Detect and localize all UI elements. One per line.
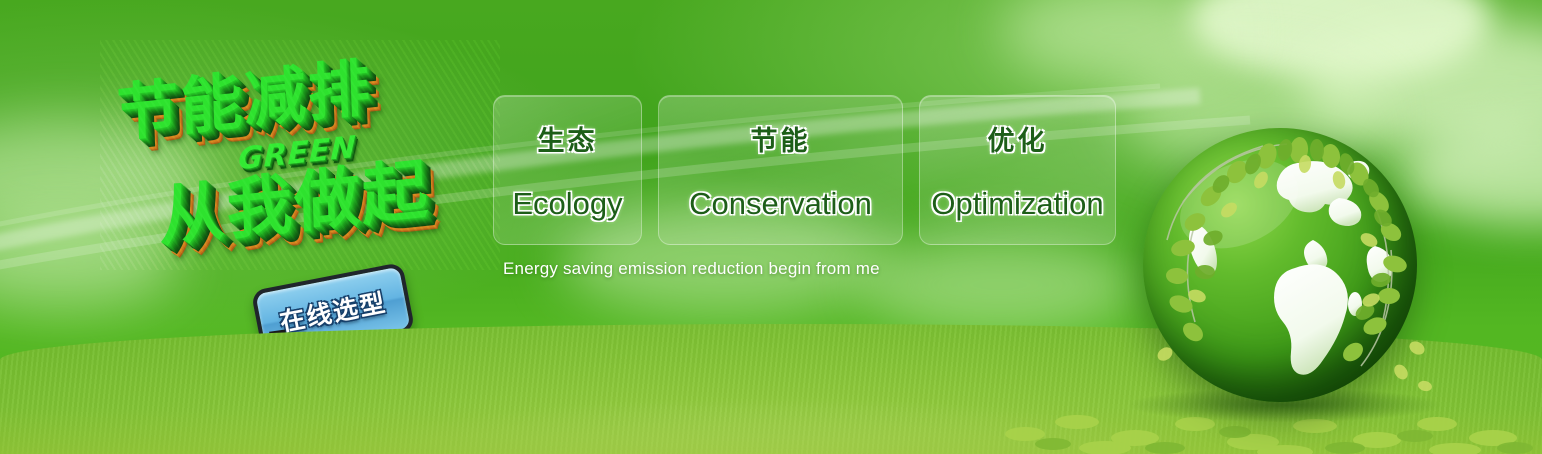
feature-card-cn-label: 节能 <box>751 119 811 158</box>
feature-card-en-label: Conservation <box>689 186 872 222</box>
headline-accent-green: GREEN <box>238 130 357 178</box>
cloud-shape <box>0 215 180 310</box>
headline-line-1: 节能减排 <box>115 37 373 154</box>
cloud-shape <box>1190 0 1490 80</box>
cloud-shape <box>860 235 1140 335</box>
cloud-shape <box>1000 0 1240 80</box>
cloud-shape <box>1400 120 1542 225</box>
feature-card-cn-label: 生态 <box>538 119 598 158</box>
feature-card-cn-label: 优化 <box>988 119 1048 158</box>
headline-texture-overlay <box>100 40 500 270</box>
feature-card-ecology[interactable]: 生态 Ecology <box>493 95 642 245</box>
eco-promo-banner: 节能减排 GREEN 从我做起 生态 Ecology 节能 Conservati… <box>0 0 1542 454</box>
headline-line-2: 从我做起 <box>157 136 431 261</box>
feature-card-en-label: Optimization <box>931 186 1103 222</box>
cloud-shape <box>0 120 210 240</box>
headline-3d-artwork: 节能减排 GREEN 从我做起 <box>100 40 500 270</box>
cloud-shape <box>1120 60 1380 170</box>
cloud-shape <box>1300 20 1542 150</box>
feature-card-group: 生态 Ecology 节能 Conservation 优化 Optimizati… <box>493 95 1116 245</box>
leaf-litter-ground <box>985 364 1542 454</box>
banner-subtitle: Energy saving emission reduction begin f… <box>503 259 880 279</box>
feature-card-conservation[interactable]: 节能 Conservation <box>658 95 903 245</box>
feature-card-en-label: Ecology <box>512 186 622 222</box>
feature-card-optimization[interactable]: 优化 Optimization <box>919 95 1116 245</box>
